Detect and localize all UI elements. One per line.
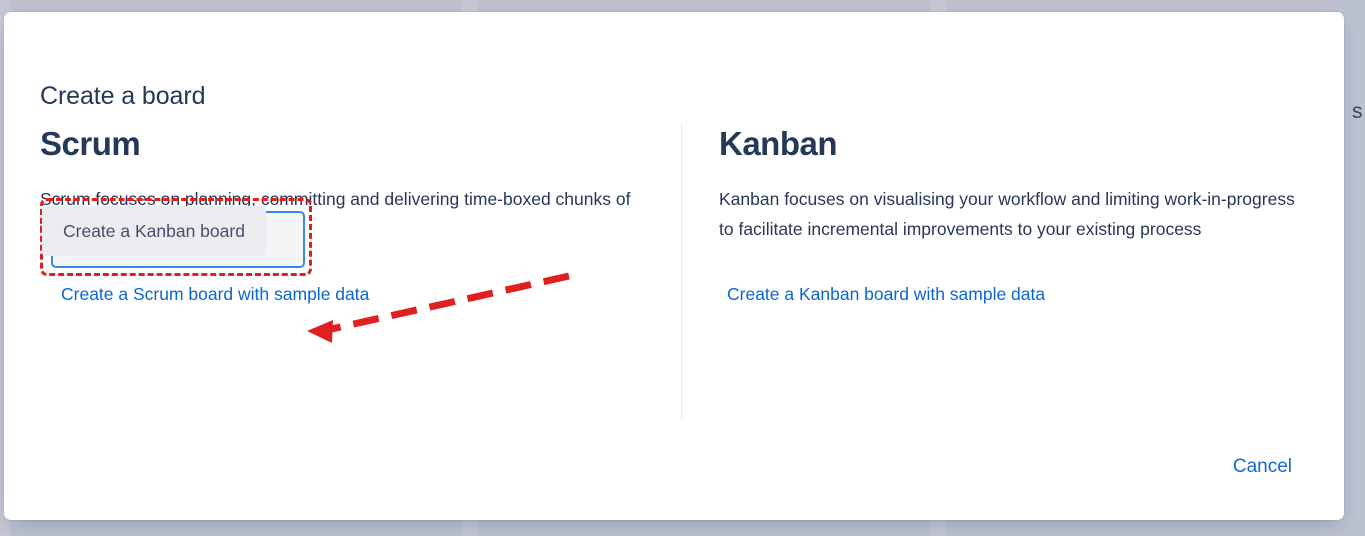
create-kanban-board-with-sample-data-link[interactable]: Create a Kanban board with sample data [727,284,1045,304]
scrum-heading: Scrum [40,116,641,164]
dialog-title: Create a board [40,81,205,111]
annotation-arrow-icon [299,262,584,352]
create-scrum-board-with-sample-data-link[interactable]: Create a Scrum board with sample data [61,284,369,304]
backdrop-partial-text: s [1352,100,1363,124]
kanban-description: Kanban focuses on visualising your workf… [719,164,1304,244]
create-board-dialog: Create a board Scrum Scrum focuses on pl… [4,12,1344,520]
cancel-button[interactable]: Cancel [1233,454,1292,480]
create-kanban-board-button[interactable]: Create a Kanban board [42,206,266,256]
board-option-kanban: Kanban Kanban focuses on visualising you… [681,116,1344,244]
kanban-heading: Kanban [719,116,1304,164]
